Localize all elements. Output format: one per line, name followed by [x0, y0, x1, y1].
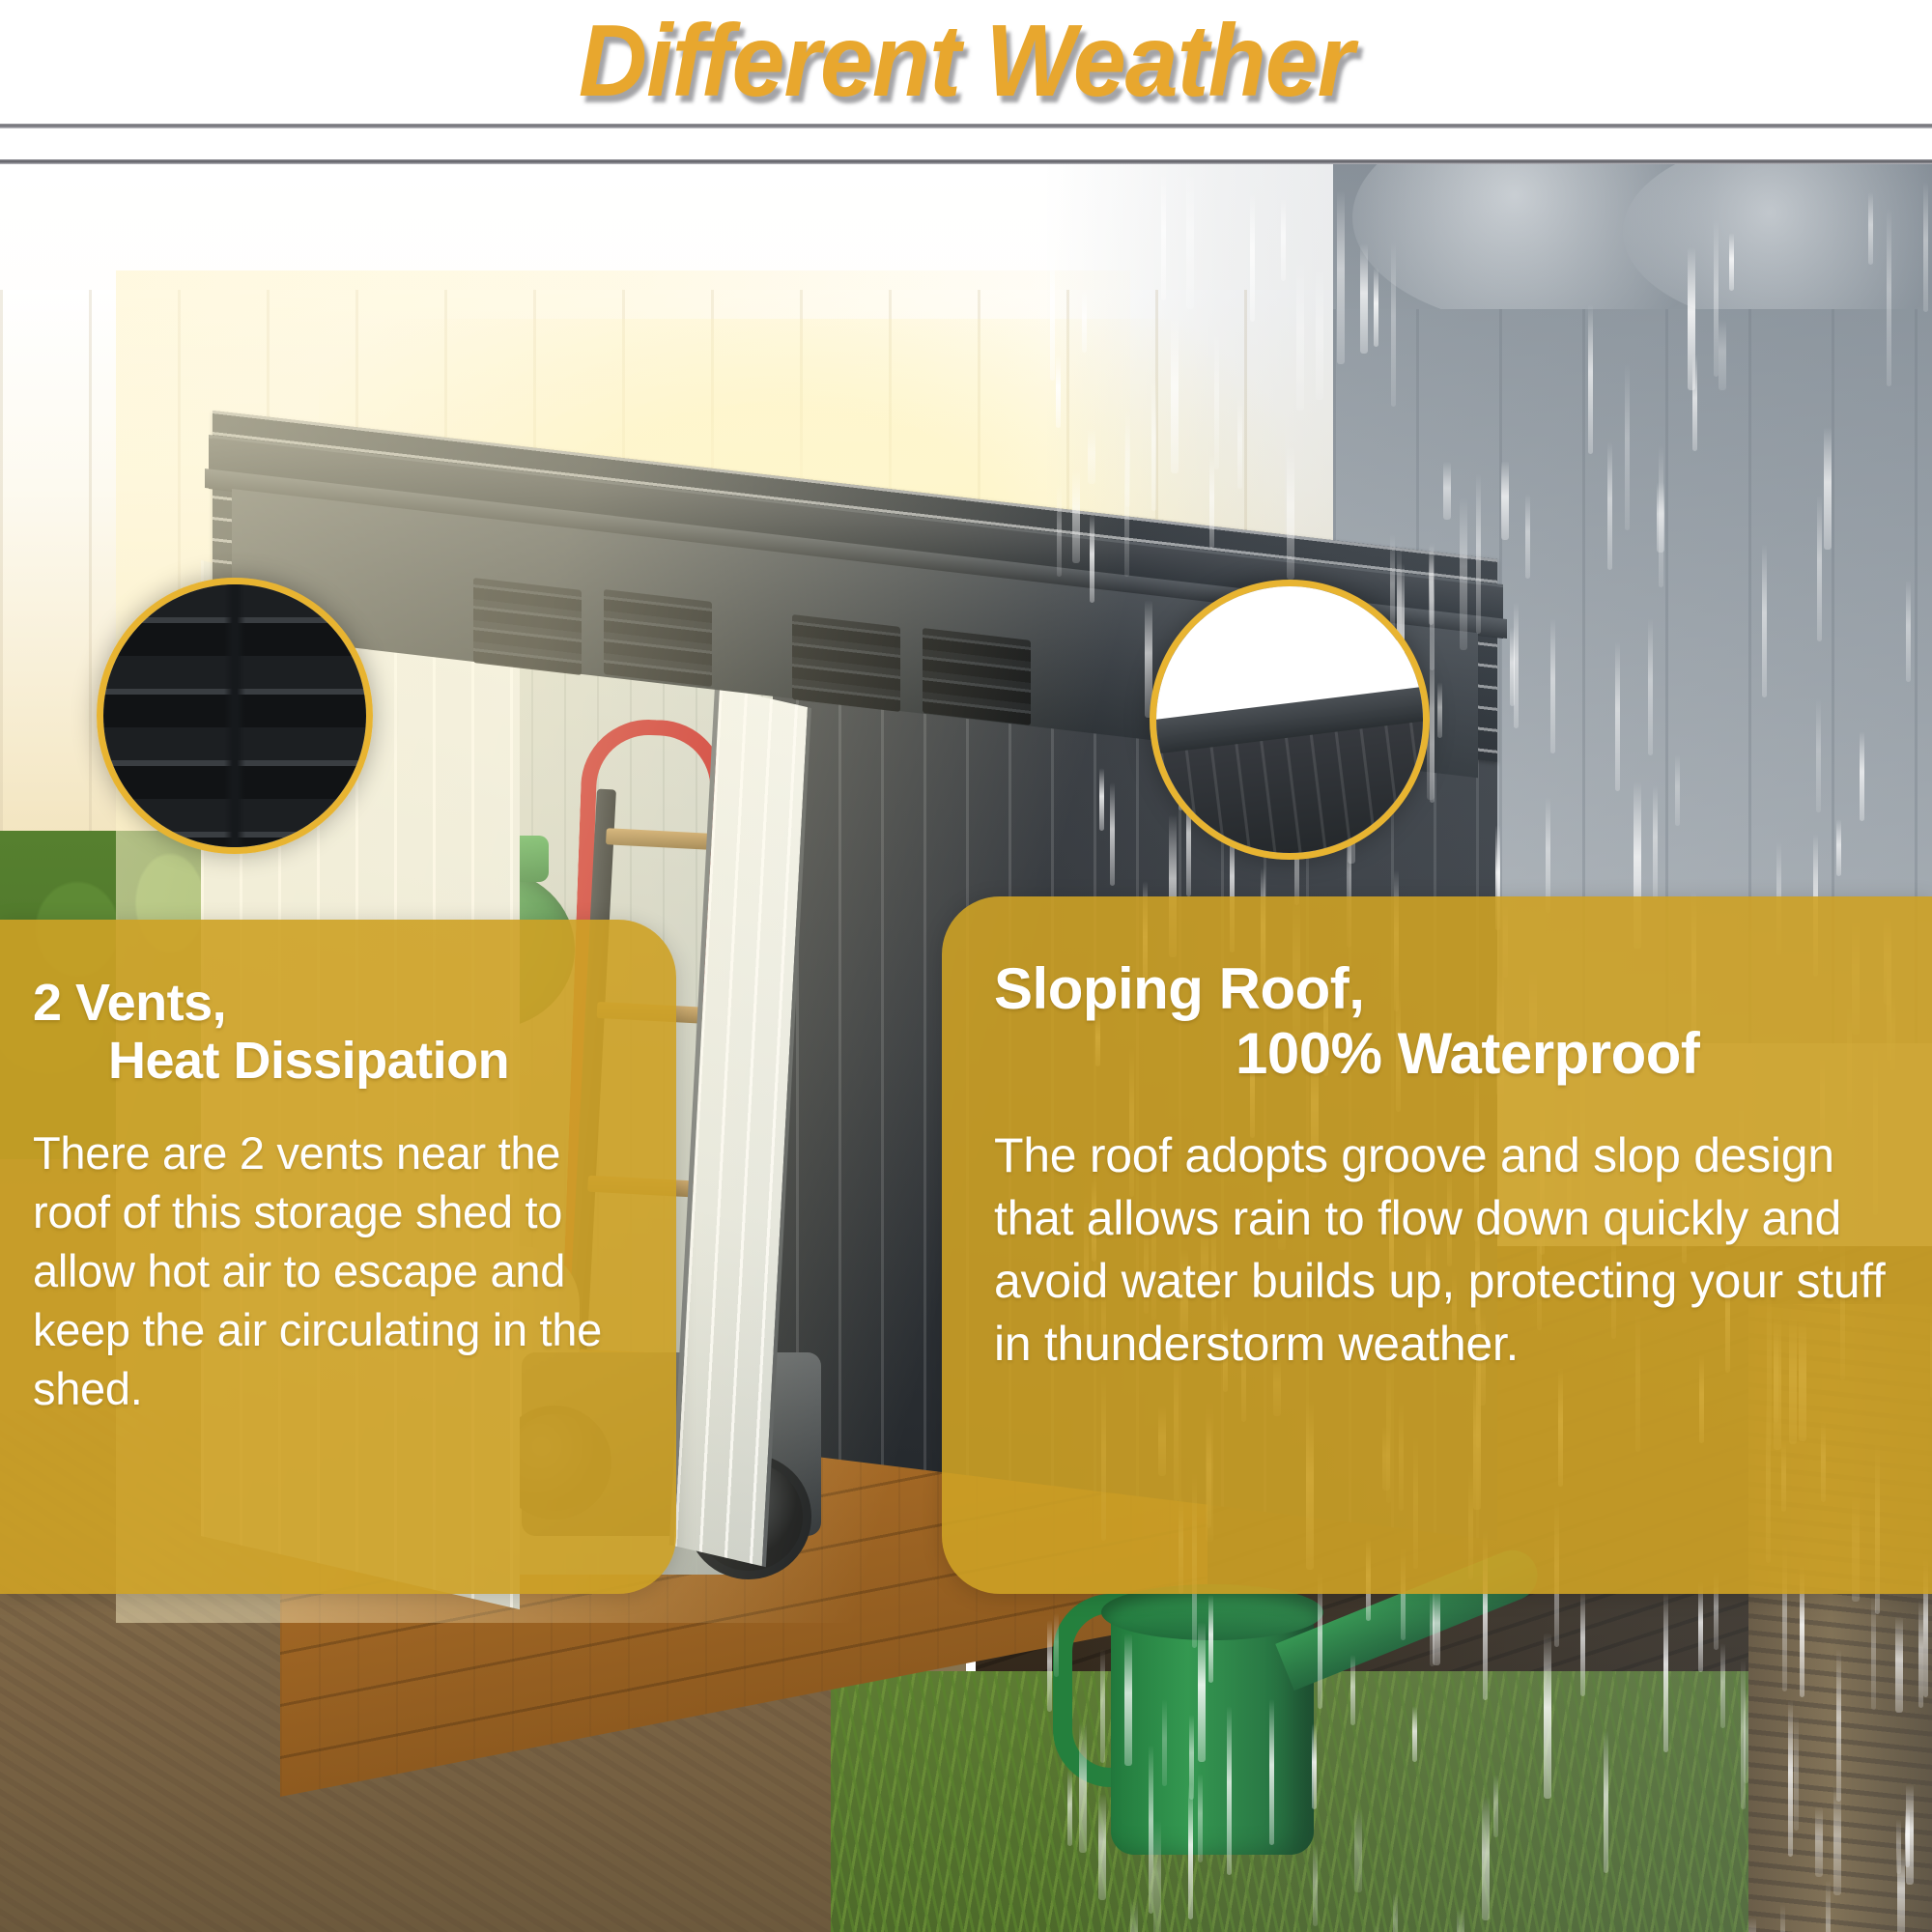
roof-vent-icon	[792, 614, 900, 712]
page-title: Different Weather	[68, 4, 1864, 118]
panel-right-heading: Sloping Roof, 100% Waterproof	[994, 956, 1893, 1086]
header-bar: Different Weather	[0, 0, 1932, 145]
roof-vent-icon	[604, 589, 712, 687]
roof-eave-icon	[1156, 586, 1423, 853]
feature-panel-vents: 2 Vents, Heat Dissipation There are 2 ve…	[0, 920, 676, 1594]
feature-panel-roof: Sloping Roof, 100% Waterproof The roof a…	[942, 896, 1932, 1594]
infographic-page: Different Weather	[0, 0, 1932, 1932]
vent-center-divider	[224, 584, 245, 847]
panel-right-heading-line2: 100% Waterproof	[994, 1021, 1893, 1086]
panel-left-heading-line2: Heat Dissipation	[33, 1032, 636, 1090]
roof-vent-icon	[923, 628, 1031, 725]
vent-closeup-callout	[97, 578, 373, 854]
divider-gap	[0, 128, 1932, 159]
panel-left-heading: 2 Vents, Heat Dissipation	[33, 974, 636, 1091]
panel-left-body: There are 2 vents near the roof of this …	[33, 1123, 636, 1418]
panel-left-heading-line1: 2 Vents,	[33, 974, 226, 1032]
roof-edge-closeup-callout	[1150, 580, 1430, 860]
panel-right-heading-line1: Sloping Roof,	[994, 956, 1364, 1021]
roof-vent-icon	[473, 578, 582, 675]
divider-line-bottom	[0, 159, 1932, 164]
panel-right-body: The roof adopts groove and slop design t…	[994, 1124, 1893, 1376]
